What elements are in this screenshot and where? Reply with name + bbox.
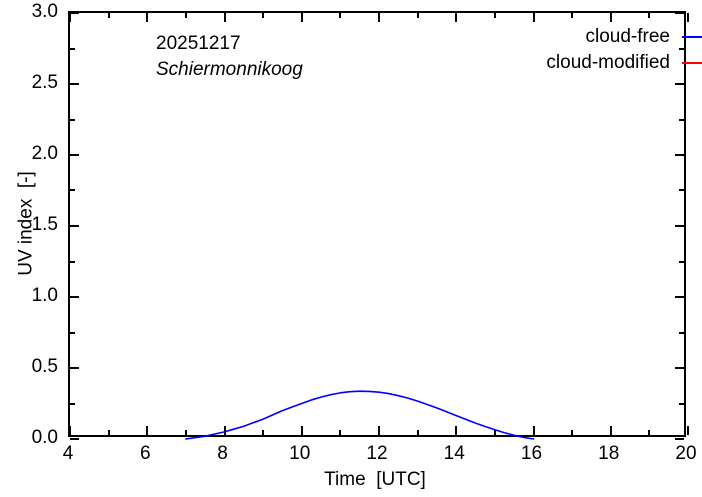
y-tick-label: 2.0 bbox=[32, 144, 58, 163]
y-tick-label: 2.5 bbox=[32, 73, 58, 92]
y-tick-label: 3.0 bbox=[32, 2, 58, 21]
x-tick-label: 6 bbox=[115, 444, 175, 463]
annotation-station: Schiermonnikoog bbox=[156, 59, 303, 81]
legend: cloud-freecloud-modified bbox=[450, 26, 702, 78]
x-tick-label: 18 bbox=[579, 444, 639, 463]
annotation-date: 20251217 bbox=[156, 33, 241, 55]
y-tick-label: 1.5 bbox=[32, 215, 58, 234]
plot-area: 20251217 Schiermonnikoog cloud-freecloud… bbox=[68, 11, 686, 437]
x-tick-label: 20 bbox=[656, 444, 702, 463]
x-tick-label: 12 bbox=[347, 444, 407, 463]
y-tick-label: 1.0 bbox=[32, 286, 58, 305]
legend-entry: cloud-modified bbox=[450, 52, 702, 78]
legend-color-swatch bbox=[682, 62, 702, 64]
x-tick-label: 16 bbox=[502, 444, 562, 463]
legend-label: cloud-free bbox=[586, 26, 671, 48]
x-tick-label: 10 bbox=[270, 444, 330, 463]
x-tick-label: 14 bbox=[424, 444, 484, 463]
y-tick-label: 0.5 bbox=[32, 357, 58, 376]
x-axis-title: Time [UTC] bbox=[0, 470, 702, 489]
series-line bbox=[186, 391, 534, 439]
x-tick-label: 4 bbox=[38, 444, 98, 463]
legend-entry: cloud-free bbox=[450, 26, 702, 52]
uv-index-chart: UV index [-] 0.00.51.01.52.02.53.0 46810… bbox=[0, 0, 702, 497]
legend-color-swatch bbox=[682, 36, 702, 38]
legend-label: cloud-modified bbox=[546, 52, 670, 74]
x-tick-label: 8 bbox=[193, 444, 253, 463]
